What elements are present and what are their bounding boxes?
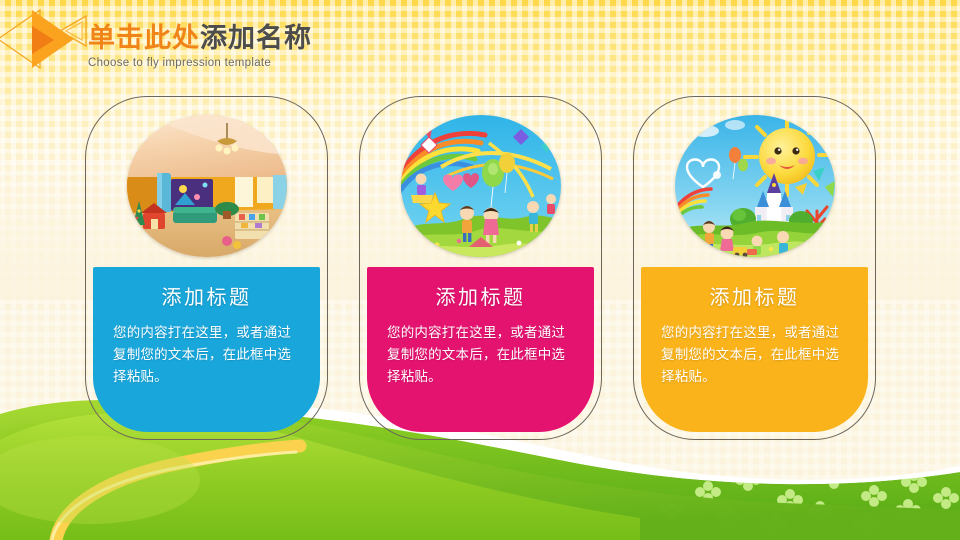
card-2-body: 您的内容打在这里，或者通过复制您的文本后，在此框中选择粘贴。 bbox=[383, 322, 578, 388]
card-2-title: 添加标题 bbox=[383, 281, 578, 310]
cards-container: 添加标题 您的内容打在这里，或者通过复制您的文本后，在此框中选择粘贴。 bbox=[0, 0, 960, 540]
card-3-panel: 添加标题 您的内容打在这里，或者通过复制您的文本后，在此框中选择粘贴。 bbox=[641, 267, 868, 432]
card-3[interactable]: 添加标题 您的内容打在这里，或者通过复制您的文本后，在此框中选择粘贴。 bbox=[633, 96, 876, 440]
card-1[interactable]: 添加标题 您的内容打在这里，或者通过复制您的文本后，在此框中选择粘贴。 bbox=[85, 96, 328, 440]
card-3-title: 添加标题 bbox=[657, 281, 852, 310]
card-1-body: 您的内容打在这里，或者通过复制您的文本后，在此框中选择粘贴。 bbox=[109, 322, 304, 388]
card-1-panel: 添加标题 您的内容打在这里，或者通过复制您的文本后，在此框中选择粘贴。 bbox=[93, 267, 320, 432]
card-3-body: 您的内容打在这里，或者通过复制您的文本后，在此框中选择粘贴。 bbox=[657, 322, 852, 388]
sun-castle-children-illustration bbox=[675, 115, 835, 257]
kindergarten-classroom-photo bbox=[127, 115, 287, 257]
rainbow-children-illustration bbox=[401, 115, 561, 257]
card-2-panel: 添加标题 您的内容打在这里，或者通过复制您的文本后，在此框中选择粘贴。 bbox=[367, 267, 594, 432]
card-1-title: 添加标题 bbox=[109, 281, 304, 310]
slide-canvas: 单击此处添加名称 Choose to fly impression templa… bbox=[0, 0, 960, 540]
card-2[interactable]: 添加标题 您的内容打在这里，或者通过复制您的文本后，在此框中选择粘贴。 bbox=[359, 96, 602, 440]
